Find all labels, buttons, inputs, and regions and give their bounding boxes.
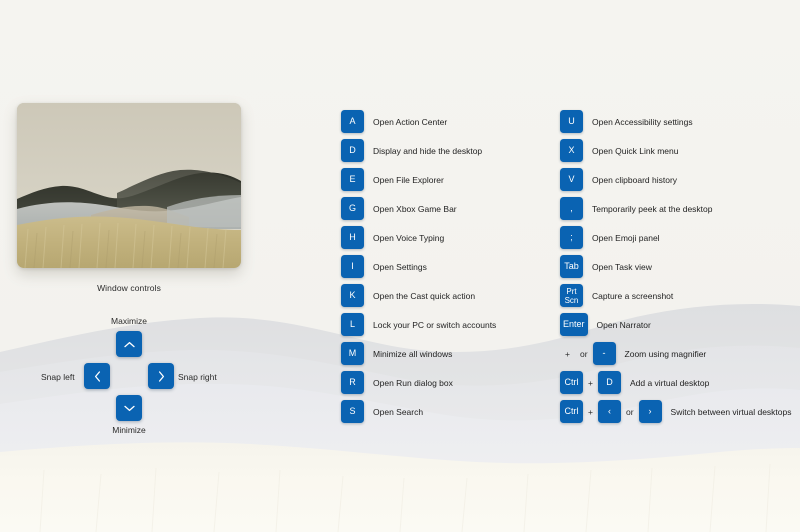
key-e[interactable]: E bbox=[341, 168, 364, 191]
shortcut-description: Display and hide the desktop bbox=[373, 146, 482, 156]
shortcut-row: DDisplay and hide the desktop bbox=[341, 136, 496, 165]
maximize-label: Maximize bbox=[17, 316, 241, 326]
shortcut-row: IOpen Settings bbox=[341, 252, 496, 281]
shortcut-description: Minimize all windows bbox=[373, 349, 452, 359]
shortcut-keys: I bbox=[341, 255, 364, 278]
shortcut-description: Open clipboard history bbox=[592, 175, 677, 185]
key-prt-scn[interactable]: PrtScn bbox=[560, 284, 583, 307]
shortcut-row: KOpen the Cast quick action bbox=[341, 281, 496, 310]
shortcut-row: SOpen Search bbox=[341, 397, 496, 426]
minimize-button[interactable] bbox=[116, 395, 142, 421]
shortcut-description: Open Narrator bbox=[597, 320, 651, 330]
key-a[interactable]: A bbox=[341, 110, 364, 133]
window-controls-caption: Window controls bbox=[17, 283, 241, 293]
plus-joiner: + bbox=[560, 349, 575, 359]
wallpaper-thumbnail-image bbox=[17, 103, 241, 268]
shortcut-keys: E bbox=[341, 168, 364, 191]
shortcut-row: ,Temporarily peek at the desktop bbox=[560, 194, 791, 223]
key-tab[interactable]: Tab bbox=[560, 255, 583, 278]
key-enter[interactable]: Enter bbox=[560, 313, 588, 336]
key-x[interactable]: X bbox=[560, 139, 583, 162]
shortcut-description: Zoom using magnifier bbox=[625, 349, 707, 359]
shortcut-description: Open Quick Link menu bbox=[592, 146, 678, 156]
shortcut-keys: Tab bbox=[560, 255, 583, 278]
shortcut-keys: R bbox=[341, 371, 364, 394]
shortcut-keys: D bbox=[341, 139, 364, 162]
key-[interactable]: ; bbox=[560, 226, 583, 249]
shortcut-column-right: UOpen Accessibility settingsXOpen Quick … bbox=[560, 107, 791, 426]
shortcut-description: Open Xbox Game Bar bbox=[373, 204, 457, 214]
shortcut-keys: K bbox=[341, 284, 364, 307]
minimize-label: Minimize bbox=[17, 425, 241, 435]
shortcut-row: PrtScnCapture a screenshot bbox=[560, 281, 791, 310]
key-h[interactable]: H bbox=[341, 226, 364, 249]
shortcut-keys: M bbox=[341, 342, 364, 365]
shortcut-keys: Ctrl+D bbox=[560, 371, 621, 394]
shortcut-description: Add a virtual desktop bbox=[630, 378, 709, 388]
key-g[interactable]: G bbox=[341, 197, 364, 220]
shortcut-keys: PrtScn bbox=[560, 284, 583, 307]
shortcut-row: TabOpen Task view bbox=[560, 252, 791, 281]
shortcut-keys: V bbox=[560, 168, 583, 191]
key-[interactable]: › bbox=[639, 400, 662, 423]
chevron-right-icon bbox=[158, 371, 165, 382]
shortcut-description: Open the Cast quick action bbox=[373, 291, 475, 301]
plus-joiner: + bbox=[583, 407, 598, 417]
shortcut-keys: ; bbox=[560, 226, 583, 249]
shortcut-keys: Enter bbox=[560, 313, 588, 336]
shortcut-row: ;Open Emoji panel bbox=[560, 223, 791, 252]
snap-left-button[interactable] bbox=[84, 363, 110, 389]
shortcut-row: EOpen File Explorer bbox=[341, 165, 496, 194]
shortcut-keys: , bbox=[560, 197, 583, 220]
key-r[interactable]: R bbox=[341, 371, 364, 394]
shortcut-keys: G bbox=[341, 197, 364, 220]
shortcut-keys: S bbox=[341, 400, 364, 423]
shortcut-row: AOpen Action Center bbox=[341, 107, 496, 136]
shortcut-row: MMinimize all windows bbox=[341, 339, 496, 368]
shortcut-keys: X bbox=[560, 139, 583, 162]
shortcut-keys: L bbox=[341, 313, 364, 336]
key-l[interactable]: L bbox=[341, 313, 364, 336]
shortcut-description: Open Task view bbox=[592, 262, 652, 272]
window-controls-diagram: Maximize Snap left Snap right Minimize bbox=[17, 312, 241, 437]
shortcut-description: Switch between virtual desktops bbox=[671, 407, 792, 417]
or-joiner: or bbox=[621, 407, 639, 417]
shortcut-row: Ctrl+‹or›Switch between virtual desktops bbox=[560, 397, 791, 426]
shortcut-row: HOpen Voice Typing bbox=[341, 223, 496, 252]
shortcut-keys: +or- bbox=[560, 342, 616, 365]
shortcut-description: Capture a screenshot bbox=[592, 291, 673, 301]
shortcut-row: +or-Zoom using magnifier bbox=[560, 339, 791, 368]
shortcut-description: Open Emoji panel bbox=[592, 233, 660, 243]
key-[interactable]: - bbox=[593, 342, 616, 365]
shortcut-row: LLock your PC or switch accounts bbox=[341, 310, 496, 339]
wallpaper-thumbnail[interactable] bbox=[17, 103, 241, 268]
shortcut-row: UOpen Accessibility settings bbox=[560, 107, 791, 136]
shortcut-row: VOpen clipboard history bbox=[560, 165, 791, 194]
shortcut-description: Lock your PC or switch accounts bbox=[373, 320, 496, 330]
shortcut-description: Temporarily peek at the desktop bbox=[592, 204, 712, 214]
key-d[interactable]: D bbox=[341, 139, 364, 162]
key-ctrl[interactable]: Ctrl bbox=[560, 371, 583, 394]
snap-left-label: Snap left bbox=[41, 372, 75, 382]
shortcut-row: EnterOpen Narrator bbox=[560, 310, 791, 339]
shortcut-description: Open Action Center bbox=[373, 117, 447, 127]
shortcut-description: Open Run dialog box bbox=[373, 378, 453, 388]
shortcut-description: Open File Explorer bbox=[373, 175, 444, 185]
key-[interactable]: ‹ bbox=[598, 400, 621, 423]
or-joiner: or bbox=[575, 349, 593, 359]
key-ctrl[interactable]: Ctrl bbox=[560, 400, 583, 423]
shortcut-row: ROpen Run dialog box bbox=[341, 368, 496, 397]
key-u[interactable]: U bbox=[560, 110, 583, 133]
shortcut-description: Open Accessibility settings bbox=[592, 117, 693, 127]
chevron-up-icon bbox=[124, 341, 135, 348]
snap-right-label: Snap right bbox=[178, 372, 217, 382]
shortcut-keys: U bbox=[560, 110, 583, 133]
chevron-down-icon bbox=[124, 405, 135, 412]
chevron-left-icon bbox=[94, 371, 101, 382]
key-v[interactable]: V bbox=[560, 168, 583, 191]
shortcut-row: XOpen Quick Link menu bbox=[560, 136, 791, 165]
shortcut-keys: Ctrl+‹or› bbox=[560, 400, 662, 423]
shortcut-row: GOpen Xbox Game Bar bbox=[341, 194, 496, 223]
shortcut-row: Ctrl+DAdd a virtual desktop bbox=[560, 368, 791, 397]
snap-right-button[interactable] bbox=[148, 363, 174, 389]
shortcut-keys: H bbox=[341, 226, 364, 249]
shortcut-description: Open Search bbox=[373, 407, 423, 417]
shortcut-column-left: AOpen Action CenterDDisplay and hide the… bbox=[341, 107, 496, 426]
shortcut-description: Open Voice Typing bbox=[373, 233, 444, 243]
key-[interactable]: , bbox=[560, 197, 583, 220]
key-k[interactable]: K bbox=[341, 284, 364, 307]
key-d[interactable]: D bbox=[598, 371, 621, 394]
maximize-button[interactable] bbox=[116, 331, 142, 357]
shortcut-description: Open Settings bbox=[373, 262, 427, 272]
plus-joiner: + bbox=[583, 378, 598, 388]
shortcut-keys: A bbox=[341, 110, 364, 133]
key-i[interactable]: I bbox=[341, 255, 364, 278]
key-m[interactable]: M bbox=[341, 342, 364, 365]
key-s[interactable]: S bbox=[341, 400, 364, 423]
